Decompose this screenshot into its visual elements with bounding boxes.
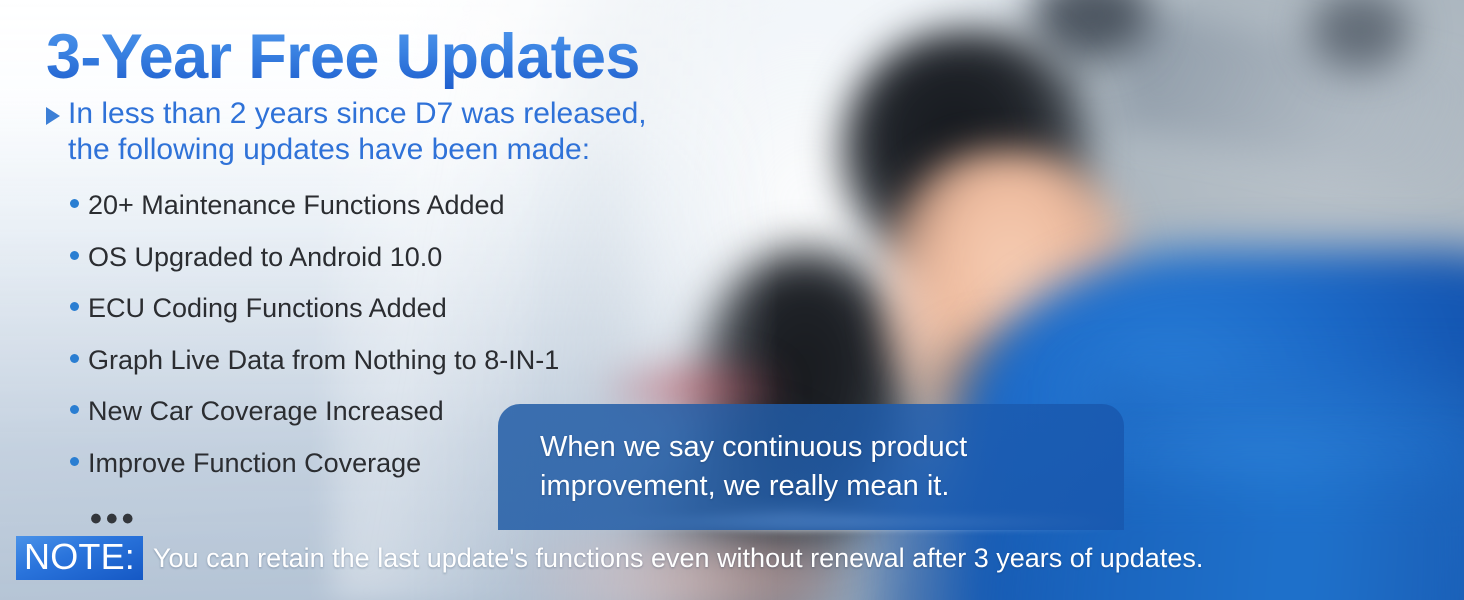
bullet-dot-icon [70, 302, 79, 311]
banner-content: 3-Year Free Updates In less than 2 years… [0, 0, 1464, 600]
list-item: OS Upgraded to Android 10.0 [70, 244, 559, 296]
list-item-label: ECU Coding Functions Added [88, 295, 447, 322]
bullet-dot-icon [70, 354, 79, 363]
subheadline-text: In less than 2 years since D7 was releas… [68, 96, 647, 167]
list-item: ECU Coding Functions Added [70, 295, 559, 347]
list-item: 20+ Maintenance Functions Added [70, 192, 559, 244]
bullet-dot-icon [70, 457, 79, 466]
note-badge: NOTE: [16, 536, 143, 580]
updates-list: 20+ Maintenance Functions Added OS Upgra… [70, 192, 559, 501]
promo-banner: 3-Year Free Updates In less than 2 years… [0, 0, 1464, 600]
list-item: New Car Coverage Increased [70, 398, 559, 450]
updates-more-indicator: ••• [90, 502, 138, 536]
bullet-dot-icon [70, 251, 79, 260]
page-title: 3-Year Free Updates [46, 26, 640, 89]
list-item: Improve Function Coverage [70, 450, 559, 502]
list-item-label: Graph Live Data from Nothing to 8-IN-1 [88, 347, 559, 374]
callout-panel: When we say continuous product improveme… [498, 404, 1124, 530]
note-bar: NOTE: You can retain the last update's f… [16, 536, 1203, 580]
note-text: You can retain the last update's functio… [153, 545, 1203, 572]
list-item-label: 20+ Maintenance Functions Added [88, 192, 505, 219]
subheadline: In less than 2 years since D7 was releas… [46, 96, 806, 167]
list-item-label: OS Upgraded to Android 10.0 [88, 244, 442, 271]
list-item-label: Improve Function Coverage [88, 450, 421, 477]
callout-text: When we say continuous product improveme… [540, 428, 967, 507]
list-item: Graph Live Data from Nothing to 8-IN-1 [70, 347, 559, 399]
list-item-label: New Car Coverage Increased [88, 398, 444, 425]
triangle-right-icon [46, 107, 60, 125]
bullet-dot-icon [70, 199, 79, 208]
bullet-dot-icon [70, 405, 79, 414]
